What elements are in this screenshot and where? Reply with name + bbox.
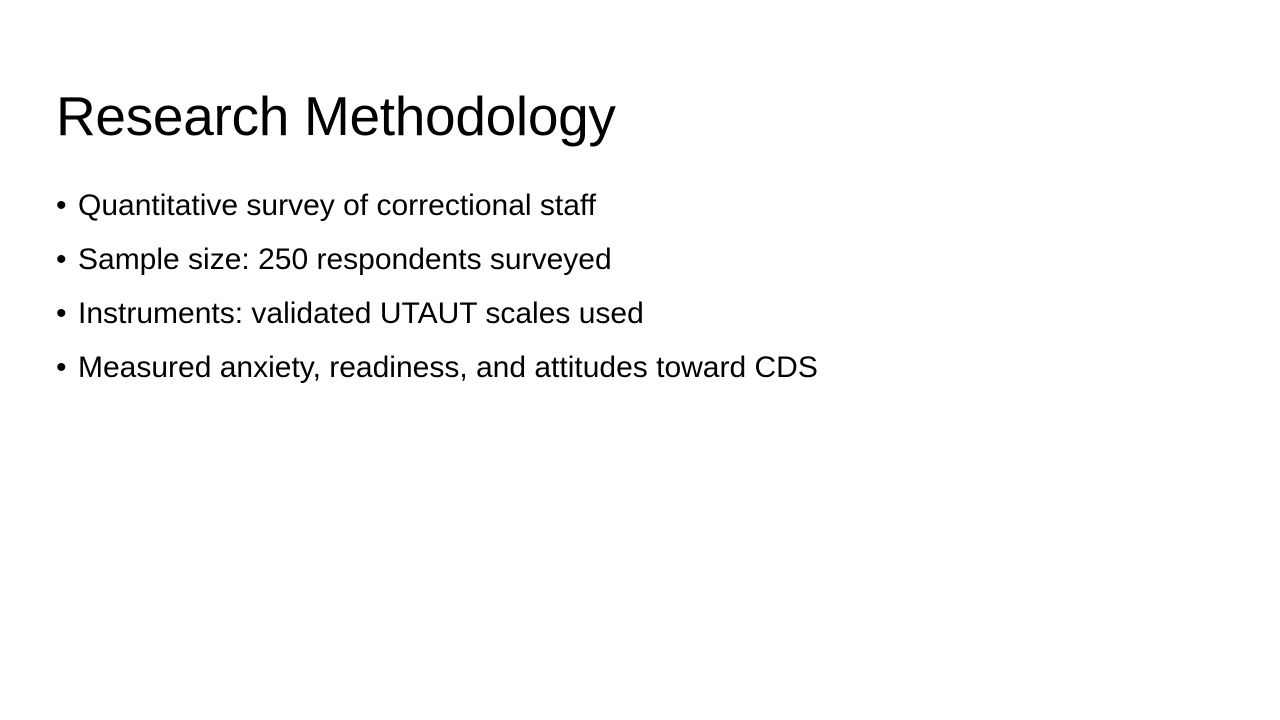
slide-bullet-list: • Quantitative survey of correctional st…: [56, 183, 1216, 399]
list-item: • Sample size: 250 respondents surveyed: [56, 237, 1216, 291]
bullet-point-icon: •: [56, 291, 78, 337]
slide-title: Research Methodology: [56, 84, 1206, 149]
presentation-slide: Research Methodology • Quantitative surv…: [0, 0, 1280, 720]
list-item: • Instruments: validated UTAUT scales us…: [56, 291, 1216, 345]
bullet-point-icon: •: [56, 183, 78, 229]
list-item-label: Quantitative survey of correctional staf…: [78, 183, 596, 229]
list-item: • Quantitative survey of correctional st…: [56, 183, 1216, 237]
list-item-label: Instruments: validated UTAUT scales used: [78, 291, 644, 337]
list-item: • Measured anxiety, readiness, and attit…: [56, 345, 1216, 399]
bullet-point-icon: •: [56, 237, 78, 283]
list-item-label: Measured anxiety, readiness, and attitud…: [78, 345, 818, 391]
list-item-label: Sample size: 250 respondents surveyed: [78, 237, 612, 283]
bullet-point-icon: •: [56, 345, 78, 391]
